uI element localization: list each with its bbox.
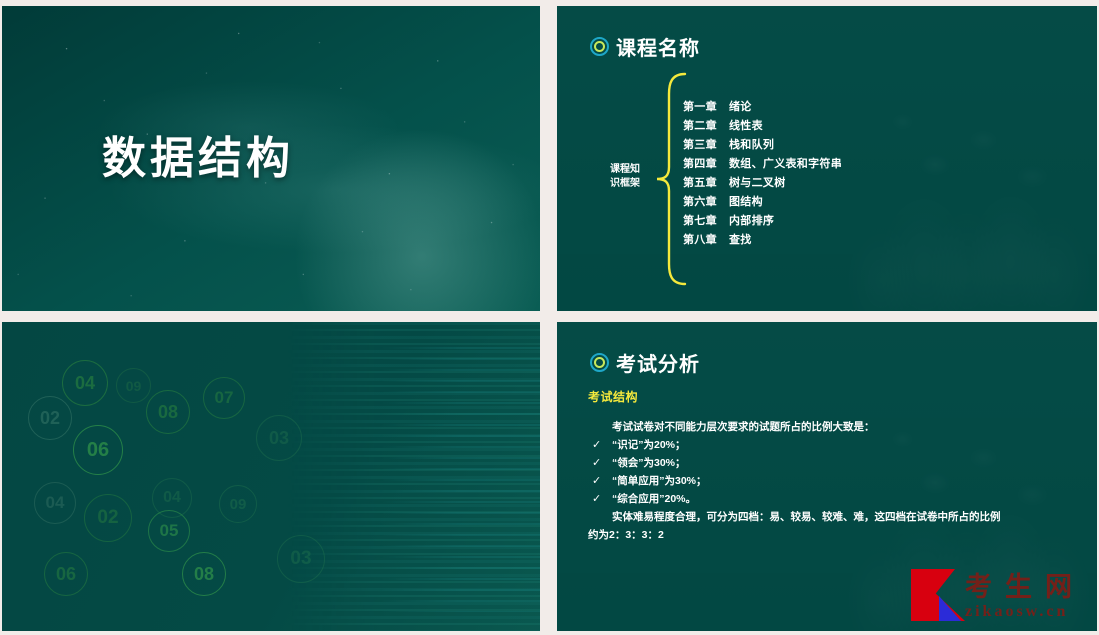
title-slide[interactable]: 数据结构: [2, 6, 540, 311]
exam-structure-subheading: 考试结构: [588, 388, 638, 405]
list-item-label: “领会”为30%；: [612, 454, 686, 472]
framework-label-line1: 课程知: [597, 163, 653, 177]
outline-heading-label: 课程名称: [616, 32, 700, 61]
chapter-name: 绪论: [729, 98, 752, 114]
chapter-row[interactable]: 第四章 数组、广义表和字符串: [683, 155, 842, 174]
watermark-text: 考生网 zikaosw.cn: [965, 572, 1085, 623]
chapter-row[interactable]: 第一章 绪论: [683, 98, 842, 117]
framework-label-line2: 识框架: [597, 177, 653, 191]
chapter-number: 第一章: [683, 98, 729, 114]
exam-heading-label: 考试分析: [616, 348, 700, 377]
exam-tail-line-2: 约为2：3：3：2: [588, 526, 1058, 544]
list-item-label: “综合应用”20%。: [612, 490, 696, 508]
exam-analysis-slide[interactable]: 考试分析 考试结构 考试试卷对不同能力层次要求的试题所占的比例大致是： ✓ “识…: [557, 322, 1097, 631]
deco-number-circle: 02: [28, 396, 72, 440]
chapter-row[interactable]: 第三章 栈和队列: [683, 136, 842, 155]
deco-number-circle: 05: [148, 510, 190, 552]
exam-lead-text: 考试试卷对不同能力层次要求的试题所占的比例大致是：: [588, 418, 1058, 436]
deco-number-circle: 09: [219, 485, 257, 523]
deco-number-circle: 04: [34, 482, 76, 524]
chapter-number: 第六章: [683, 193, 729, 209]
list-item: ✓ “综合应用”20%。: [588, 490, 1058, 508]
chapter-name: 查找: [729, 231, 752, 247]
deco-number-circle: 03: [277, 535, 325, 583]
watermark-brand: 考生网: [965, 572, 1085, 602]
k-logo-icon: [909, 567, 971, 623]
check-icon: ✓: [592, 436, 603, 454]
framework-label: 课程知 识框架: [597, 163, 653, 191]
chapter-name: 内部排序: [729, 212, 774, 228]
deco-number-circle: 02: [84, 494, 132, 542]
chapter-list: 第一章 绪论 第二章 线性表 第三章 栈和队列 第四章 数组、广义表和字符串 第…: [683, 98, 842, 250]
exam-tail-line-1: 实体难易程度合理，可分为四档：易、较易、较难、难，这四档在试卷中所占的比例: [588, 508, 1058, 526]
chapter-number: 第七章: [683, 212, 729, 228]
double-ring-icon: [590, 353, 609, 372]
chapter-row[interactable]: 第八章 查找: [683, 231, 842, 250]
chapter-name: 数组、广义表和字符串: [729, 155, 842, 171]
deco-number-circle: 08: [146, 390, 190, 434]
chapter-row[interactable]: 第六章 图结构: [683, 193, 842, 212]
watermark-url: zikaosw.cn: [965, 602, 1085, 621]
chapter-number: 第四章: [683, 155, 729, 171]
list-item: ✓ “简单应用”为30%；: [588, 472, 1058, 490]
deco-number-circle: 09: [116, 368, 151, 403]
section-divider-slide[interactable]: 040908070206030402040509030608 考试分析: [2, 322, 540, 631]
outline-heading: 课程名称: [590, 32, 700, 61]
deco-number-circle: 06: [73, 425, 123, 475]
chapter-number: 第八章: [683, 231, 729, 247]
slide-grid: 数据结构 课程名称 课程知 识框架 第一章 绪论 第二章 线性表 第三章: [0, 0, 1099, 635]
chapter-name: 线性表: [729, 117, 763, 133]
check-icon: ✓: [592, 454, 603, 472]
exam-heading: 考试分析: [590, 348, 700, 377]
course-outline-slide[interactable]: 课程名称 课程知 识框架 第一章 绪论 第二章 线性表 第三章 栈和队列 第四章: [557, 6, 1097, 311]
double-ring-icon: [590, 37, 609, 56]
site-watermark: 考生网 zikaosw.cn: [909, 567, 1085, 623]
chapter-number: 第五章: [683, 174, 729, 190]
deco-number-circle: 08: [182, 552, 226, 596]
list-item-label: “简单应用”为30%；: [612, 472, 707, 490]
list-item-label: “识记”为20%；: [612, 436, 686, 454]
page-title: 数据结构: [102, 122, 294, 186]
list-item: ✓ “识记”为20%；: [588, 436, 1058, 454]
check-icon: ✓: [592, 490, 603, 508]
chapter-row[interactable]: 第五章 树与二叉树: [683, 174, 842, 193]
check-icon: ✓: [592, 472, 603, 490]
chapter-row[interactable]: 第二章 线性表: [683, 117, 842, 136]
deco-number-circle: 03: [256, 415, 302, 461]
stripe-texture-fine: [379, 347, 540, 613]
deco-number-circle: 04: [62, 360, 108, 406]
list-item: ✓ “领会”为30%；: [588, 454, 1058, 472]
deco-number-circle: 07: [203, 377, 245, 419]
chapter-row[interactable]: 第七章 内部排序: [683, 212, 842, 231]
deco-number-circle: 06: [44, 552, 88, 596]
chapter-name: 树与二叉树: [729, 174, 786, 190]
chapter-name: 图结构: [729, 193, 763, 209]
chapter-number: 第二章: [683, 117, 729, 133]
exam-body: 考试试卷对不同能力层次要求的试题所占的比例大致是： ✓ “识记”为20%； ✓ …: [588, 418, 1058, 544]
chapter-number: 第三章: [683, 136, 729, 152]
chapter-name: 栈和队列: [729, 136, 774, 152]
